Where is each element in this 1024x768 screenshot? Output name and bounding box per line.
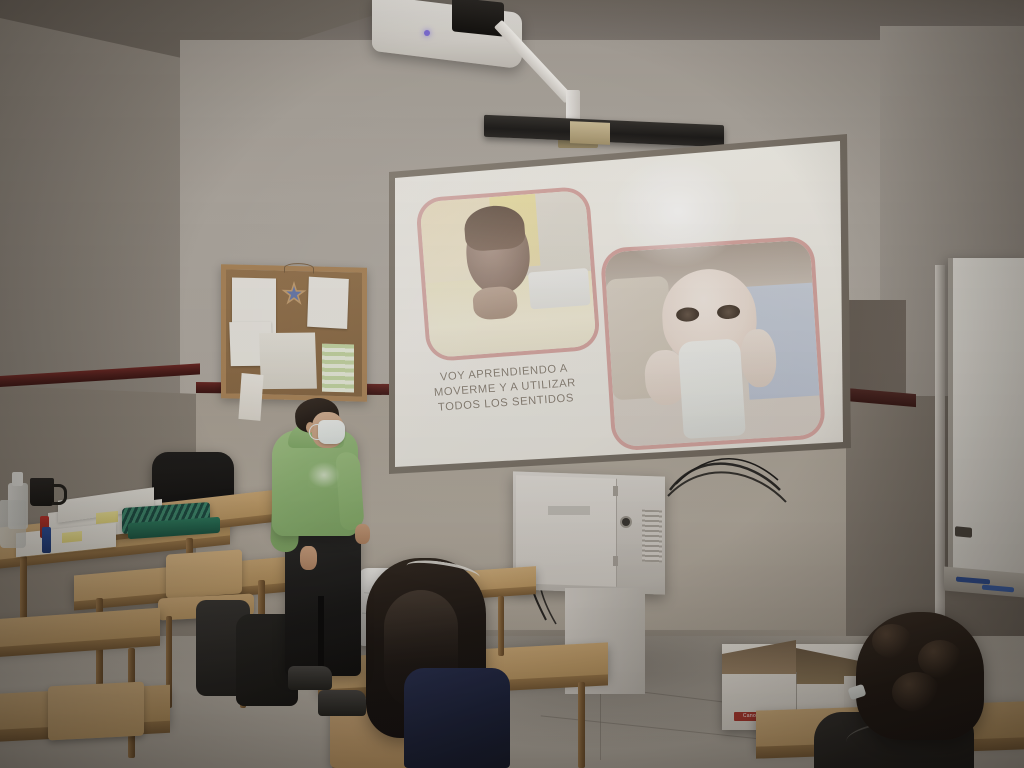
standing-boy-shoe: [318, 690, 366, 716]
sticky-note: [96, 511, 118, 524]
cabinet-hinge: [613, 556, 618, 566]
sticky-note: [62, 531, 82, 543]
hair-curl: [872, 624, 912, 658]
hanger-icon: [284, 263, 314, 274]
projector-lens: [452, 0, 504, 37]
cabinet-label: [548, 506, 590, 515]
seated-girl-top: [404, 668, 510, 768]
sanitizer-pump[interactable]: [12, 472, 23, 486]
slide-photo-right: [604, 240, 822, 448]
cork-notice-board: [221, 264, 367, 402]
projector-power-led: [424, 30, 430, 36]
cork-paper-note: [307, 277, 349, 329]
classroom-photo: VOY APRENDIENDO A MOVERME Y A UTILIZAR T…: [0, 0, 1024, 768]
hanging-paper: [238, 373, 263, 421]
cabinet-lock-icon[interactable]: [622, 518, 630, 526]
standing-boy-hand-right: [355, 524, 370, 544]
cabinet-vent: [642, 510, 662, 563]
marker-blue[interactable]: [42, 527, 51, 553]
child-drawing: [259, 333, 317, 390]
cabinet-hinge: [613, 486, 618, 496]
green-striped-paper: [322, 344, 354, 393]
hoodie-chest-print: [308, 462, 340, 488]
presentation-slide: VOY APRENDIENDO A MOVERME Y A UTILIZAR T…: [381, 134, 851, 474]
standing-boy-face-mask: [318, 420, 345, 444]
desk-leg: [20, 556, 27, 620]
whiteboard-eraser[interactable]: [955, 526, 972, 537]
chair-backrest[interactable]: [166, 549, 242, 598]
coffee-mug[interactable]: [30, 478, 54, 506]
face-mask-ear-loop: [309, 424, 320, 440]
whiteboard-right[interactable]: [948, 258, 1024, 588]
projection-screen[interactable]: VOY APRENDIENDO A MOVERME Y A UTILIZAR T…: [381, 134, 851, 474]
soundbar-plate: [570, 121, 610, 145]
mug-handle: [52, 484, 67, 505]
desk-leg: [498, 596, 504, 656]
slide-caption-text: VOY APRENDIENDO A MOVERME Y A UTILIZAR T…: [414, 360, 597, 417]
standing-boy-shoe: [288, 666, 332, 690]
hair-curl: [918, 640, 962, 678]
slide-photo-left: [419, 190, 596, 358]
glass-jar[interactable]: [0, 500, 26, 548]
desk-leg: [578, 682, 585, 768]
chair-backrest[interactable]: [48, 681, 144, 740]
standing-boy-hand-left: [300, 546, 317, 570]
hair-curl: [892, 672, 940, 712]
